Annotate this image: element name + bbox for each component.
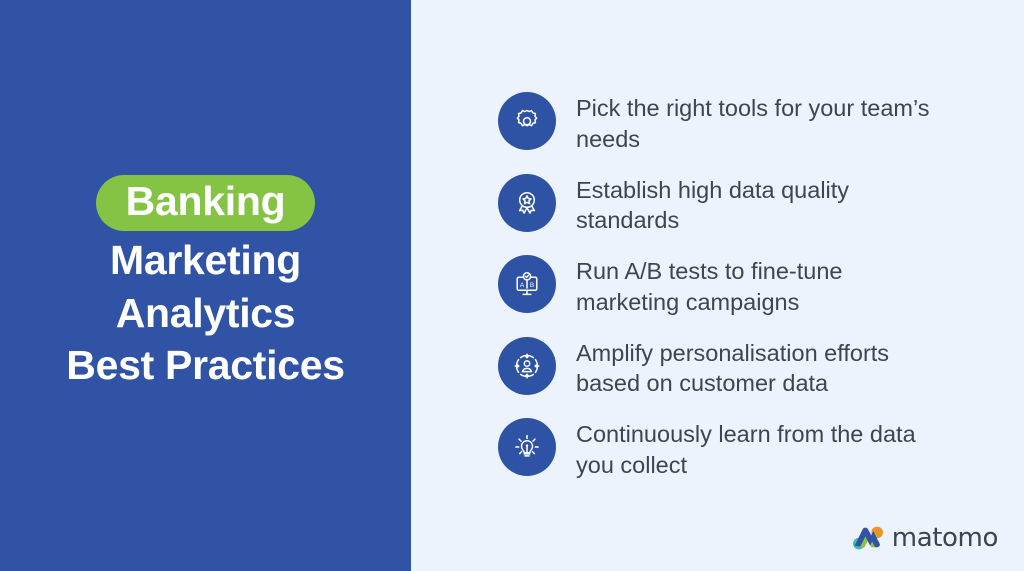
list-item-label: Pick the right tools for your team’s nee… [576, 88, 946, 155]
list-item: Establish high data quality standards [498, 170, 1024, 237]
ab-test-monitor-icon: A B [498, 255, 556, 313]
list-item: Amplify personalisation efforts based on… [498, 333, 1024, 400]
svg-text:B: B [530, 282, 534, 289]
matomo-wordmark: matomo [892, 525, 998, 551]
right-content-panel: Pick the right tools for your team’s nee… [411, 0, 1024, 571]
list-item-label: Establish high data quality standards [576, 170, 946, 237]
award-ribbon-icon [498, 174, 556, 232]
gear-icon [498, 92, 556, 150]
banking-pill-badge: Banking [96, 175, 316, 231]
title-block: Banking Marketing Analytics Best Practic… [0, 175, 411, 392]
personalisation-target-icon [498, 337, 556, 395]
list-item-label: Continuously learn from the data you col… [576, 414, 946, 481]
list-item: Continuously learn from the data you col… [498, 414, 1024, 481]
title-line-3: Best Practices [0, 339, 411, 391]
list-item-label: Amplify personalisation efforts based on… [576, 333, 946, 400]
title-line-1: Marketing [0, 234, 411, 286]
matomo-logo: matomo [853, 525, 998, 551]
slide-canvas: Banking Marketing Analytics Best Practic… [0, 0, 1024, 571]
svg-text:A: A [520, 282, 525, 289]
lightbulb-icon [498, 418, 556, 476]
title-line-2: Analytics [0, 287, 411, 339]
list-item: Pick the right tools for your team’s nee… [498, 88, 1024, 155]
pill-row: Banking [0, 175, 411, 231]
matomo-logo-mark [853, 526, 883, 550]
best-practices-list: Pick the right tools for your team’s nee… [498, 88, 1024, 481]
list-item-label: Run A/B tests to fine-tune marketing cam… [576, 251, 946, 318]
left-title-panel: Banking Marketing Analytics Best Practic… [0, 0, 411, 571]
list-item: A B Run A/B tests to fine-tune marketing… [498, 251, 1024, 318]
